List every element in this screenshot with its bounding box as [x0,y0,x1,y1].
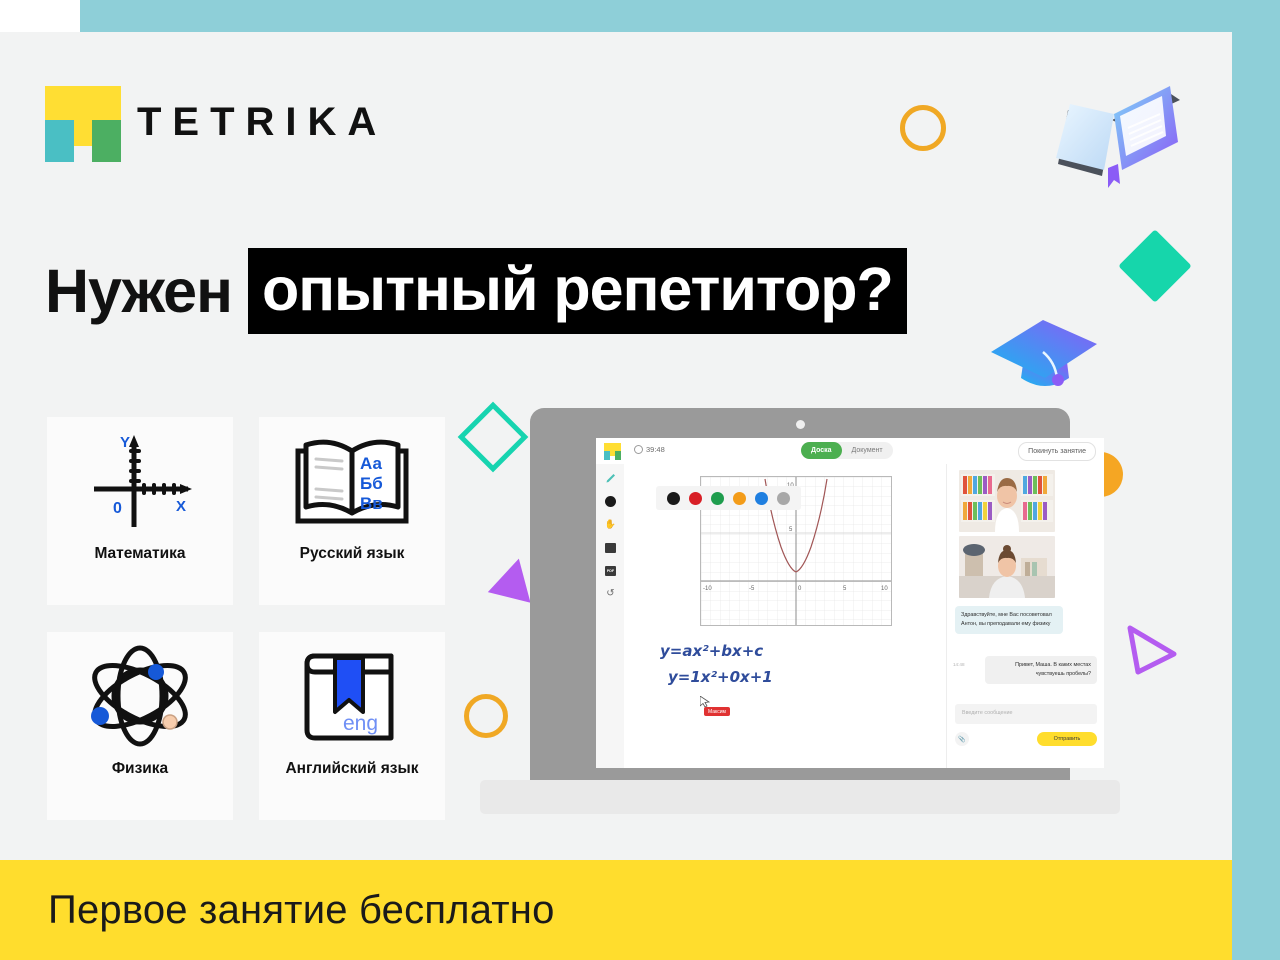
svg-text:Вв: Вв [360,494,383,513]
laptop-mockup: 39:48 Доска Документ Покинуть занятие [480,408,1120,828]
tetrika-logo-icon [45,86,121,162]
chat-panel: Здравствуйте, мне Вас посоветовал Антон,… [946,464,1104,768]
orange-ring-top-icon [900,105,946,151]
svg-text:0: 0 [113,500,122,517]
subject-card-physics[interactable]: Физика [47,632,233,820]
subject-label: Математика [94,545,185,563]
svg-text:Аа: Аа [360,454,382,473]
swatch-green[interactable] [711,492,724,505]
swatch-black[interactable] [667,492,680,505]
swatch-red[interactable] [689,492,702,505]
whiteboard[interactable]: -10 -5 0 5 10 5 10 y=ax²+bx+c y=1x [624,464,946,768]
chat-input[interactable]: Введите сообщение [955,704,1097,724]
open-book-alphabet-icon: Аа Бб Вв [259,417,445,545]
tutor-video-tile[interactable] [959,470,1055,532]
undo-tool-icon[interactable]: ↺ [604,587,617,600]
subject-label: Физика [112,760,168,778]
view-toggle[interactable]: Доска Документ [801,442,893,459]
send-button[interactable]: Отправить [1037,732,1097,746]
app-body: ✋ PDF ↺ [596,464,1104,768]
app-screen: 39:48 Доска Документ Покинуть занятие [596,438,1104,768]
subject-card-russian[interactable]: Аа Бб Вв Русский язык [259,417,445,605]
chat-message-incoming: Здравствуйте, мне Вас посоветовал Антон,… [955,606,1063,634]
banner-text: Первое занятие бесплатно [48,888,555,933]
chat-timestamp: 14:48 [953,662,965,667]
pdf-tool-icon[interactable]: PDF [604,564,617,577]
app-top-bar: 39:48 Доска Документ Покинуть занятие [596,438,1104,465]
formula-line-1: y=ax²+bx+c [660,642,763,660]
brand-name: TETRIKA [137,100,387,145]
paperclip-icon[interactable]: 📎 [955,732,969,746]
laptop-base [480,780,1120,814]
timer-value: 39:48 [646,445,665,454]
laptop-lid: 39:48 Доска Документ Покинуть занятие [530,408,1070,788]
swatch-orange[interactable] [733,492,746,505]
tab-board[interactable]: Доска [801,442,842,459]
coordinate-axes-icon: Y X 0 [47,417,233,545]
english-book-icon: eng [259,632,445,760]
leave-lesson-button[interactable]: Покинуть занятие [1018,442,1096,461]
page-title: Нужен опытный репетитор? [45,248,907,334]
headline-highlight: опытный репетитор? [248,248,907,334]
svg-text:eng: eng [343,712,378,735]
svg-text:Бб: Бб [360,474,383,493]
color-dot-tool-icon[interactable] [604,495,617,508]
subject-label: Английский язык [285,760,418,778]
svg-text:Y: Y [120,434,130,451]
purple-triangle-outline-icon [1124,624,1178,676]
color-palette[interactable] [656,486,801,510]
hand-tool-icon[interactable]: ✋ [604,518,617,531]
formula-line-2: y=1x²+0x+1 [668,668,773,686]
session-timer: 39:48 [634,445,665,454]
subject-card-english[interactable]: eng Английский язык [259,632,445,820]
swatch-gray[interactable] [777,492,790,505]
svg-text:X: X [176,498,186,515]
svg-text:10: 10 [881,586,888,592]
collaborator-name-tag: Максим [704,707,730,716]
svg-text:-10: -10 [703,586,712,592]
pen-tool-icon[interactable] [604,472,617,485]
chat-message-outgoing: Привет, Маша. В каких местах чувствуешь … [985,656,1097,684]
graduation-cap-3d-icon [985,290,1105,400]
tab-document[interactable]: Документ [842,442,893,459]
svg-text:-5: -5 [749,586,755,592]
poster-root: TETRIKA Нужен опытный репетитор? [0,0,1280,960]
book-3d-icon [1050,80,1190,200]
clock-icon [634,445,643,454]
right-teal-band [1232,0,1280,960]
tool-rail: ✋ PDF ↺ [596,464,625,768]
atom-icon [47,632,233,760]
webcam-icon [796,420,805,429]
subject-card-math[interactable]: Y X 0 Математика [47,417,233,605]
top-teal-band [80,0,1280,32]
app-logo-icon[interactable] [604,443,621,460]
subject-label: Русский язык [300,545,405,563]
headline-plain: Нужен [45,256,232,326]
student-video-tile[interactable] [959,536,1055,598]
image-tool-icon[interactable] [604,541,617,554]
swatch-blue[interactable] [755,492,768,505]
